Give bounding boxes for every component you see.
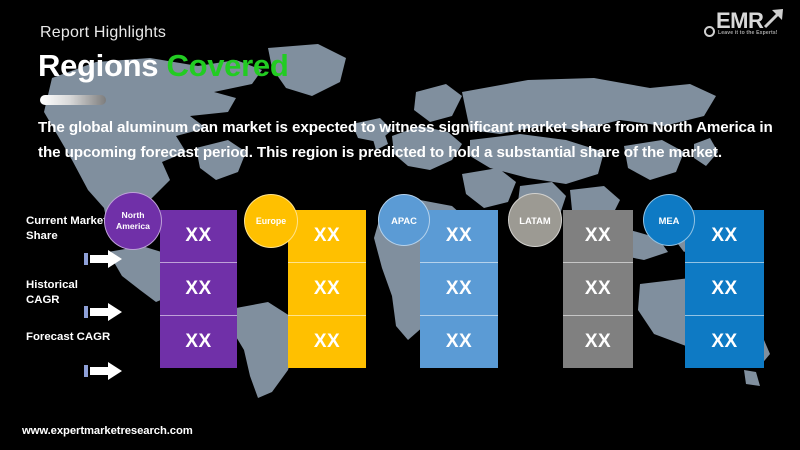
arrow-right-icon — [84, 360, 124, 382]
region-cell-value: XX — [288, 210, 366, 262]
region-bubble-north-america[interactable]: North America — [104, 192, 162, 250]
logo-tagline: Leave it to the Experts! — [718, 30, 778, 36]
region-cell-value: XX — [563, 315, 633, 368]
region-cell-value: XX — [420, 262, 498, 315]
page-title-part1: Regions — [38, 48, 167, 83]
region-cell-value: XX — [563, 262, 633, 315]
region-column-latam[interactable]: XXXXXX — [563, 210, 633, 368]
arrow-up-right-icon — [762, 6, 786, 30]
region-cell-value: XX — [160, 210, 237, 262]
region-cell-value: XX — [685, 210, 764, 262]
region-cell-value: XX — [160, 262, 237, 315]
region-column-apac[interactable]: XXXXXX — [420, 210, 498, 368]
arrow-right-icon — [84, 301, 124, 323]
region-cell-value: XX — [420, 315, 498, 368]
title-accent-bar — [40, 95, 106, 105]
logo-ring-icon — [704, 26, 715, 37]
eyebrow-text: Report Highlights — [40, 24, 166, 42]
intro-paragraph: The global aluminum can market is expect… — [38, 115, 778, 165]
slide-canvas: EMR Leave it to the Experts! Report High… — [0, 0, 800, 450]
region-column-mea[interactable]: XXXXXX — [685, 210, 764, 368]
row-label-current-market-share: Current Market Share — [26, 214, 112, 244]
region-column-north-america[interactable]: XXXXXX — [160, 210, 237, 368]
arrow-right-icon — [84, 248, 124, 270]
region-cell-value: XX — [160, 315, 237, 368]
region-cell-value: XX — [288, 315, 366, 368]
emr-logo: EMR Leave it to the Experts! — [700, 6, 786, 46]
region-cell-value: XX — [288, 262, 366, 315]
region-cell-value: XX — [685, 315, 764, 368]
region-bubble-apac[interactable]: APAC — [378, 194, 430, 246]
page-title: Regions Covered — [38, 48, 288, 84]
row-label-forecast-cagr: Forecast CAGR — [26, 330, 112, 345]
region-bubble-mea[interactable]: MEA — [643, 194, 695, 246]
region-cell-value: XX — [563, 210, 633, 262]
region-column-europe[interactable]: XXXXXX — [288, 210, 366, 368]
region-cell-value: XX — [685, 262, 764, 315]
region-cell-value: XX — [420, 210, 498, 262]
region-bubble-latam[interactable]: LATAM — [508, 193, 562, 247]
footer-url: www.expertmarketresearch.com — [22, 425, 193, 437]
page-title-part2: Covered — [167, 48, 289, 83]
region-bubble-europe[interactable]: Europe — [244, 194, 298, 248]
